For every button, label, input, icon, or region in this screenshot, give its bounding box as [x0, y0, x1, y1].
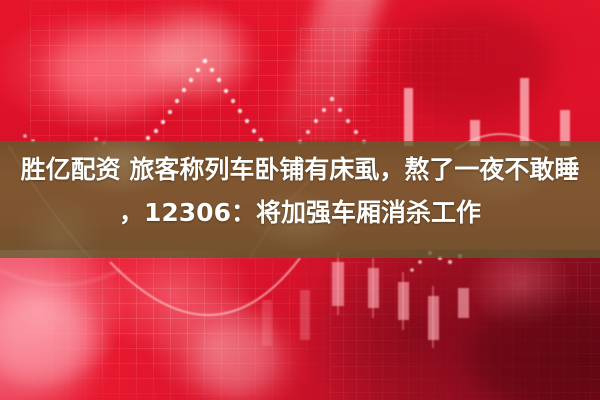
dotted-trend-line-upper [146, 59, 263, 142]
banner-image: 胜亿配资 旅客称列车卧铺有床虱，熬了一夜不敢睡 ，12306：将加强车厢消杀工作 [0, 0, 600, 400]
headline-line-2: ，12306：将加强车厢消杀工作 [0, 191, 600, 234]
dotted-trend-line-right [298, 97, 366, 144]
headline-line-1: 胜亿配资 旅客称列车卧铺有床虱，熬了一夜不敢睡 [0, 148, 600, 191]
curve-arc-lower-left [0, 270, 120, 285]
candlestick-bars-lower [262, 262, 469, 346]
headline-text: 胜亿配资 旅客称列车卧铺有床虱，熬了一夜不敢睡 ，12306：将加强车厢消杀工作 [0, 148, 600, 234]
candlestick-wicks-lower [338, 252, 433, 348]
